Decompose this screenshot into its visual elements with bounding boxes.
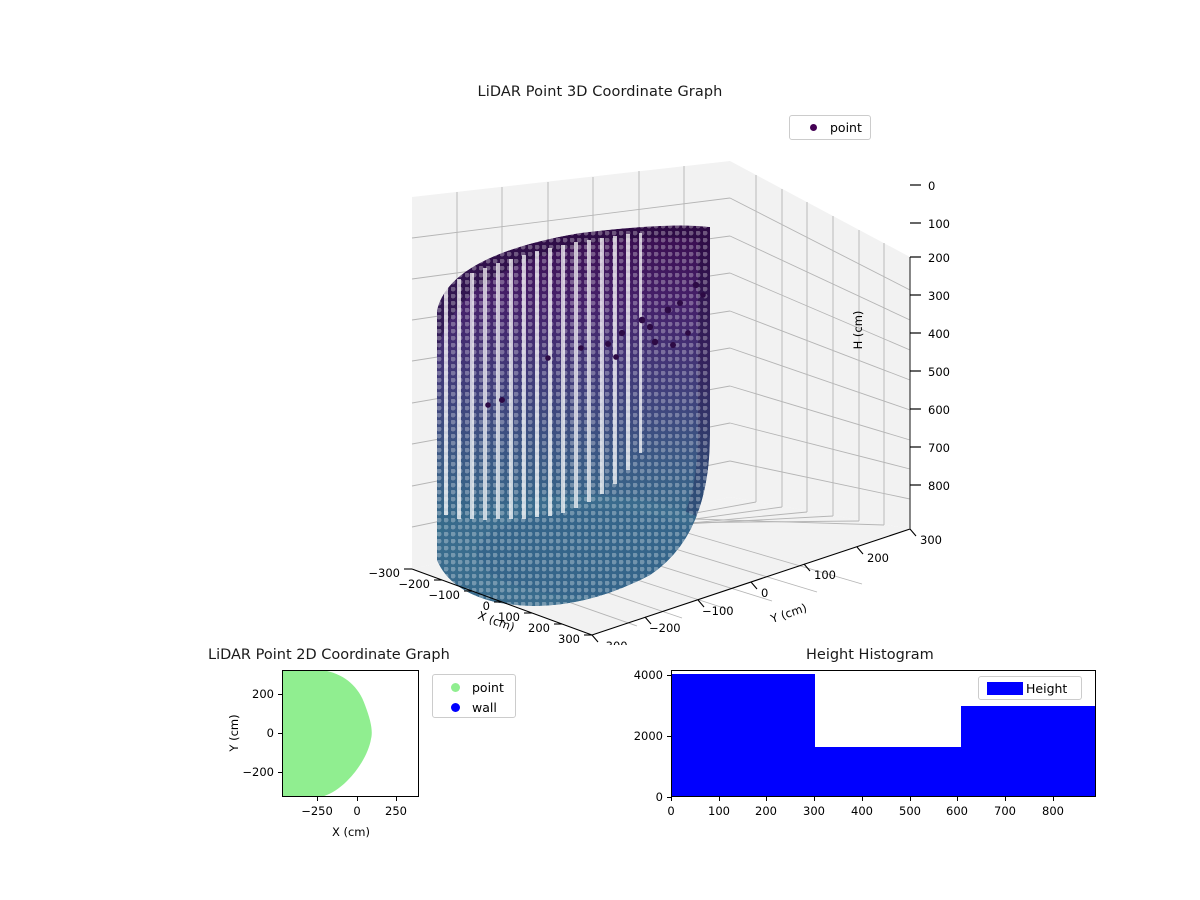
xtick-label-hist: 400 <box>842 804 882 818</box>
svg-text:700: 700 <box>928 441 950 455</box>
svg-text:300: 300 <box>920 533 942 547</box>
lidar-2d-plot[interactable]: 200 0 −200 −250 0 250 X (cm) Y (cm) <box>150 660 450 860</box>
point-marker-icon <box>438 683 472 692</box>
ztick-labels-3d: 0 100 200 300 400 500 600 700 800 <box>928 179 950 493</box>
xtick-mark-2d <box>357 797 358 801</box>
svg-text:100: 100 <box>928 217 950 231</box>
zticks-3d <box>910 185 921 485</box>
xtick-mark-hist <box>814 797 815 801</box>
svg-text:400: 400 <box>928 327 950 341</box>
xtick-mark-hist <box>1053 797 1054 801</box>
xtick-label-hist: 0 <box>651 804 691 818</box>
plot3d-title: LiDAR Point 3D Coordinate Graph <box>0 84 1200 100</box>
svg-text:−300: −300 <box>368 566 400 580</box>
ytick-label-2d: 200 <box>242 687 274 701</box>
legend-label-point: point <box>472 680 504 695</box>
plot2d-legend[interactable]: point wall <box>432 674 516 718</box>
xtick-mark-hist <box>671 797 672 801</box>
histogram-bar[interactable] <box>961 706 1096 796</box>
svg-text:100: 100 <box>814 568 836 582</box>
point-marker-icon <box>796 124 830 131</box>
xtick-label-hist: 500 <box>890 804 930 818</box>
svg-text:−100: −100 <box>702 604 734 618</box>
legend-label-height: Height <box>1026 681 1067 696</box>
legend-item-height[interactable]: Height <box>984 677 1076 699</box>
xtick-label-2d: 0 <box>337 804 377 818</box>
legend-item-wall[interactable]: wall <box>438 697 510 717</box>
zaxis-label-3d: H (cm) <box>851 311 865 350</box>
height-bar-swatch-icon <box>984 682 1026 695</box>
point-region-2d <box>283 671 372 797</box>
xtick-mark-2d <box>317 797 318 801</box>
wall-marker-icon <box>438 703 472 712</box>
ytick-label-hist: 0 <box>617 790 663 804</box>
ytick-mark-2d <box>278 772 282 773</box>
ytick-mark-2d <box>278 733 282 734</box>
xtick-label-2d: 250 <box>376 804 416 818</box>
yaxis-label-2d: Y (cm) <box>227 693 241 773</box>
svg-text:0: 0 <box>928 179 935 193</box>
svg-text:600: 600 <box>928 403 950 417</box>
svg-text:−300: −300 <box>596 639 628 645</box>
yaxis-label-3d: Y (cm) <box>768 601 809 627</box>
xtick-label-hist: 700 <box>985 804 1025 818</box>
legend-item-point[interactable]: point <box>438 677 510 697</box>
svg-text:0: 0 <box>761 586 768 600</box>
svg-text:−100: −100 <box>428 588 460 602</box>
svg-text:500: 500 <box>928 365 950 379</box>
ytick-label-hist: 2000 <box>617 729 663 743</box>
xtick-mark-2d <box>396 797 397 801</box>
xtick-label-hist: 800 <box>1033 804 1073 818</box>
lidar-3d-plot[interactable]: −300 −200 −100 0 100 200 300 X (cm) 300 … <box>150 105 1050 645</box>
ytick-mark-2d <box>278 694 282 695</box>
svg-text:200: 200 <box>928 251 950 265</box>
xtick-label-hist: 600 <box>937 804 977 818</box>
legend-label-point: point <box>830 120 862 135</box>
svg-text:200: 200 <box>867 551 889 565</box>
plot2d-axes[interactable] <box>282 670 419 797</box>
ytick-label-hist: 4000 <box>617 668 663 682</box>
xtick-label-hist: 100 <box>699 804 739 818</box>
xtick-mark-hist <box>910 797 911 801</box>
xtick-label-2d: −250 <box>297 804 337 818</box>
xtick-label-hist: 200 <box>746 804 786 818</box>
ytick-mark-hist <box>667 736 671 737</box>
ytick-label-2d: 0 <box>242 726 274 740</box>
point-cloud-2d <box>283 671 419 797</box>
xtick-mark-hist <box>1005 797 1006 801</box>
svg-text:−200: −200 <box>649 621 681 635</box>
plot3d-legend[interactable]: point <box>789 115 871 140</box>
pane-yz <box>730 161 910 529</box>
xtick-mark-hist <box>957 797 958 801</box>
xaxis-label-2d: X (cm) <box>311 825 391 839</box>
svg-text:300: 300 <box>928 289 950 303</box>
xtick-label-hist: 300 <box>794 804 834 818</box>
legend-label-wall: wall <box>472 700 497 715</box>
histogram-legend[interactable]: Height <box>978 676 1082 700</box>
svg-text:300: 300 <box>558 632 580 645</box>
ytick-mark-hist <box>667 675 671 676</box>
plot3d-canvas: −300 −200 −100 0 100 200 300 X (cm) 300 … <box>150 105 1050 645</box>
legend-item-point[interactable]: point <box>796 116 864 139</box>
ytick-label-2d: −200 <box>242 765 274 779</box>
xtick-mark-hist <box>719 797 720 801</box>
xtick-mark-hist <box>862 797 863 801</box>
xtick-mark-hist <box>766 797 767 801</box>
svg-text:200: 200 <box>528 621 550 635</box>
svg-text:−200: −200 <box>398 577 430 591</box>
histogram-bar[interactable] <box>815 747 961 796</box>
svg-text:800: 800 <box>928 479 950 493</box>
histogram-bar[interactable] <box>672 674 815 796</box>
